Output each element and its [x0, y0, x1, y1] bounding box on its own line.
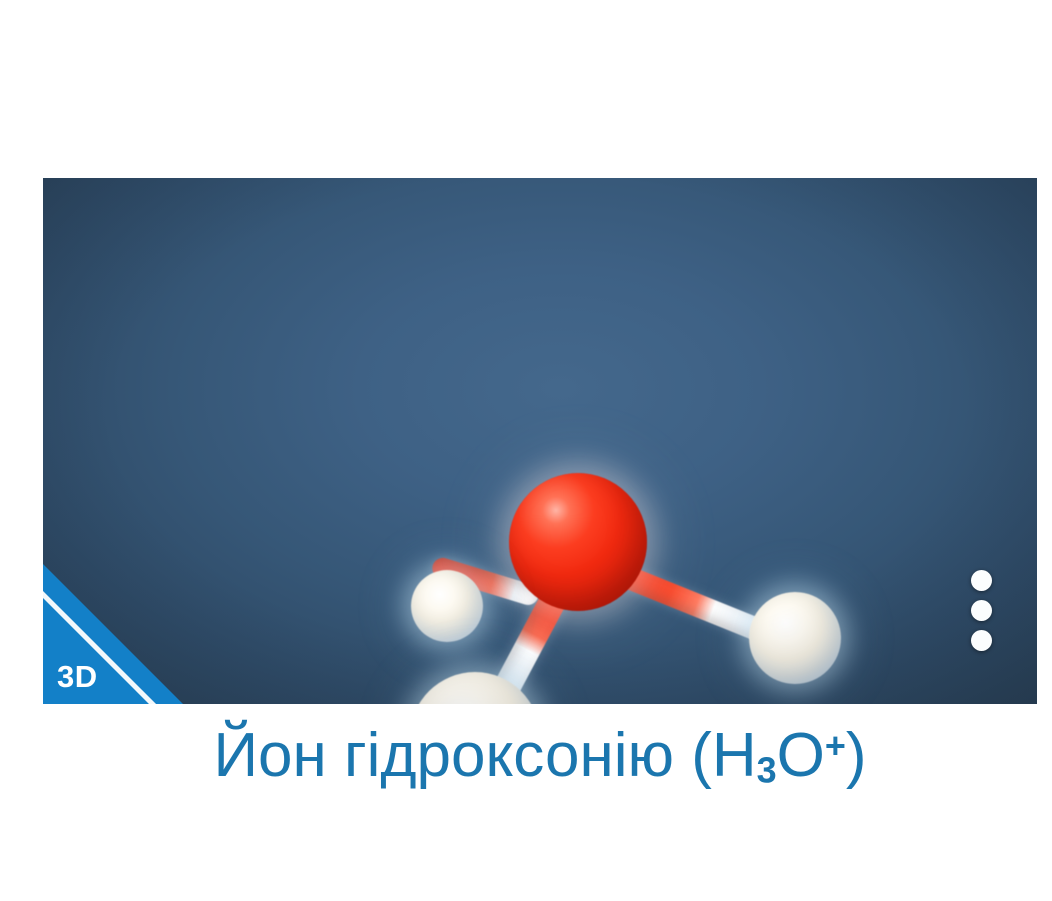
caption-middle: O: [777, 721, 825, 790]
more-vertical-icon-dot-3: [971, 630, 992, 651]
more-vertical-icon-dot-2: [971, 600, 992, 621]
molecule-viewer-panel[interactable]: 3D: [43, 178, 1037, 704]
caption-suffix: ): [846, 721, 867, 790]
more-vertical-icon-dot-1: [971, 570, 992, 591]
caption-superscript: +: [825, 725, 846, 766]
badge-3d: 3D: [43, 564, 183, 704]
more-options-button[interactable]: [967, 570, 997, 652]
badge-3d-label: 3D: [57, 661, 98, 692]
molecule-caption: Йон гідроксонію (H3O+): [43, 720, 1037, 791]
atom-oxygen: [509, 473, 647, 611]
atom-hydrogen-left: [411, 570, 483, 642]
molecule-stage[interactable]: [43, 178, 1037, 704]
caption-subscript: 3: [757, 749, 777, 790]
atom-hydrogen-right: [749, 592, 841, 684]
caption-prefix: Йон гідроксонію (H: [213, 721, 756, 790]
